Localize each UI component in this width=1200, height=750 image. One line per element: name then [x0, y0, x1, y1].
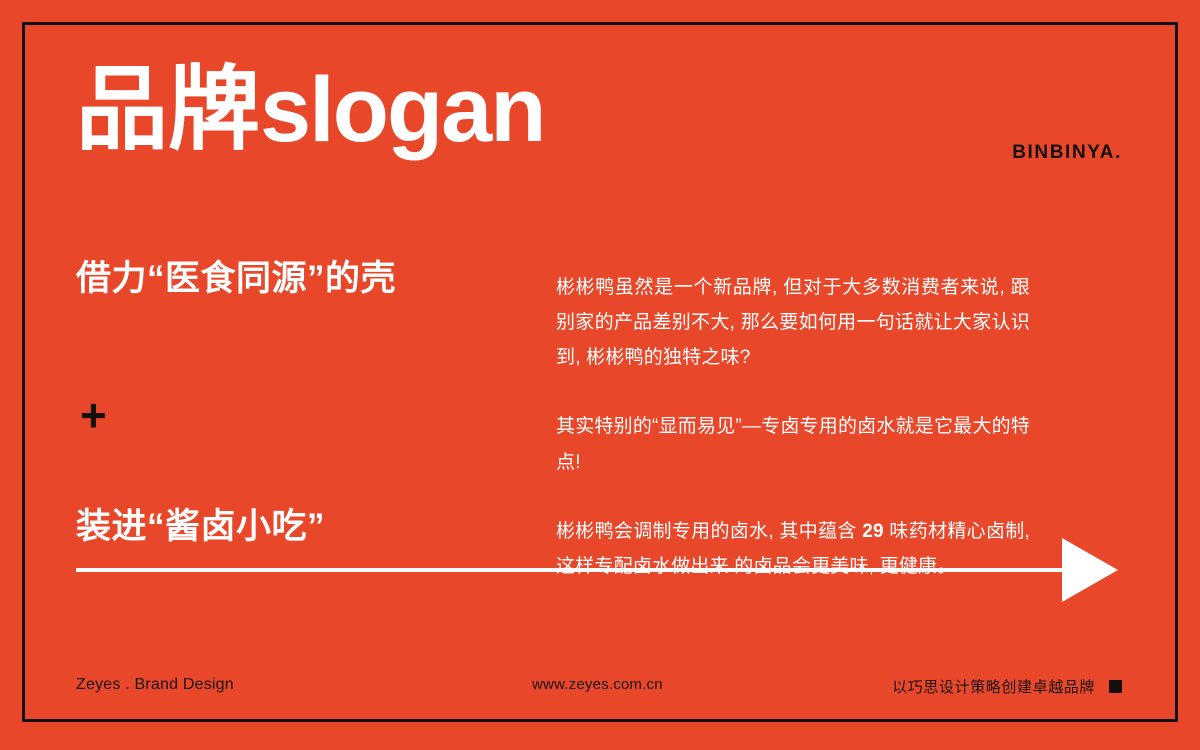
left-column: 借力“医食同源”的壳 + 装进“酱卤小吃”	[76, 258, 506, 548]
lead-heading-one: 借力“医食同源”的壳	[76, 258, 506, 300]
divider-line	[76, 568, 1070, 572]
body-paragraph: 其实特别的“显而易见”—专卤专用的卤水就是它最大的特点!	[556, 409, 1030, 479]
footer-tagline: 以巧思设计策略创建卓越品牌	[892, 676, 1095, 697]
footer-studio-credit: Zeyes . Brand Design	[76, 676, 234, 694]
paragraph-text-before: 其实特别的“显而易见”—专卤专用的卤水就是它最大的特点!	[556, 416, 1030, 472]
slide-canvas: 品牌slogan BINBINYA. 借力“医食同源”的壳 + 装进“酱卤小吃”…	[0, 0, 1200, 750]
page-title: 品牌slogan	[76, 62, 545, 159]
body-paragraph: 彬彬鸭虽然是一个新品牌, 但对于大多数消费者来说, 跟别家的产品差别不大, 那么…	[556, 270, 1030, 375]
paragraph-text-before: 彬彬鸭会调制专用的卤水, 其中蕴含	[556, 521, 862, 542]
body-paragraph: 彬彬鸭会调制专用的卤水, 其中蕴含 29 味药材精心卤制, 这样专配卤水做出来 …	[556, 514, 1030, 584]
right-column: 彬彬鸭虽然是一个新品牌, 但对于大多数消费者来说, 跟别家的产品差别不大, 那么…	[556, 270, 1030, 584]
page-title-en: slogan	[260, 59, 544, 161]
arrow-right-triangle-icon	[1062, 538, 1118, 602]
paragraph-emphasis: 29	[862, 521, 884, 542]
plus-icon: +	[80, 392, 506, 438]
lead-heading-two: 装进“酱卤小吃”	[76, 506, 506, 548]
paragraph-text-before: 彬彬鸭虽然是一个新品牌, 但对于大多数消费者来说, 跟别家的产品差别不大, 那么…	[556, 277, 1030, 368]
square-bullet-icon	[1109, 680, 1122, 693]
brand-logo: BINBINYA.	[1012, 142, 1122, 164]
page-title-cn: 品牌	[76, 59, 260, 161]
footer-tagline-group: 以巧思设计策略创建卓越品牌	[892, 676, 1122, 697]
footer-website[interactable]: www.zeyes.com.cn	[532, 676, 663, 693]
